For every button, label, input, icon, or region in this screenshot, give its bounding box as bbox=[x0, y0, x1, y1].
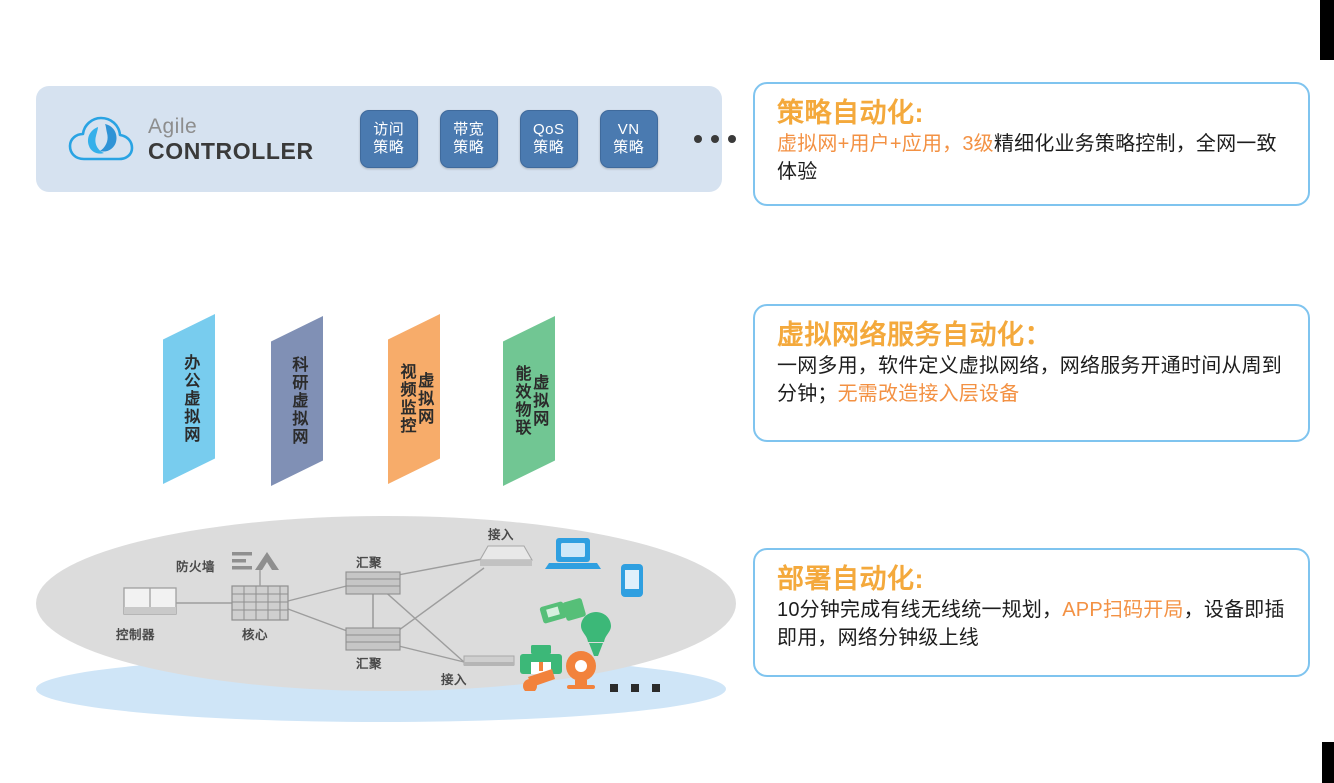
card-deployment-automation: 部署自动化: 10分钟完成有线无线统一规划，APP扫码开局，设备即插即用，网络分… bbox=[753, 548, 1310, 677]
logo-controller-text: CONTROLLER bbox=[148, 140, 314, 163]
core-switch-icon bbox=[232, 570, 288, 620]
vn-label-iot-1: 能效物联 bbox=[512, 365, 529, 437]
wireless-ap-icon bbox=[539, 598, 586, 624]
vn-plane-video-caption: 视频监控 虚拟网 bbox=[388, 314, 440, 484]
logo-wordmark: Agile CONTROLLER bbox=[148, 116, 314, 163]
policy-button-vn-line2: 策略 bbox=[613, 139, 644, 157]
card-2-highlight-text: 无需改造接入层设备 bbox=[838, 383, 1020, 405]
policy-button-row: 访问 策略 带宽 策略 QoS 策略 VN 策略 bbox=[360, 110, 736, 168]
topology-label-agg-bottom: 汇聚 bbox=[356, 653, 382, 672]
vn-label-office: 办公虚拟网 bbox=[181, 354, 198, 444]
switch-icon-agg-top bbox=[346, 572, 400, 594]
policy-button-access-line2: 策略 bbox=[373, 139, 404, 157]
card-virtual-network-automation-body: 一网多用，软件定义虚拟网络，网络服务开通时间从周到分钟；无需改造接入层设备 bbox=[777, 353, 1286, 408]
access-switch-icon-bottom bbox=[464, 656, 514, 666]
light-bulb-icon bbox=[581, 612, 611, 656]
topology-label-firewall: 防火墙 bbox=[176, 556, 215, 575]
cloud-swirl-icon bbox=[68, 113, 134, 165]
policy-ellipsis-icon bbox=[694, 135, 736, 143]
card-policy-automation-body: 虚拟网+用户+应用，3级精细化业务策略控制，全网一致体验 bbox=[777, 131, 1286, 186]
agile-controller-logo: Agile CONTROLLER bbox=[68, 113, 314, 165]
card-virtual-network-automation-title: 虚拟网络服务自动化： bbox=[777, 320, 1286, 351]
card-deployment-automation-body: 10分钟完成有线无线统一规划，APP扫码开局，设备即插即用，网络分钟级上线 bbox=[777, 597, 1286, 652]
vn-plane-research: 科研虚拟网 bbox=[271, 316, 323, 486]
vn-plane-office-caption: 办公虚拟网 bbox=[163, 314, 215, 484]
vn-plane-iot-caption: 能效物联 虚拟网 bbox=[503, 316, 555, 486]
left-diagram-column: Agile CONTROLLER 访问 策略 带宽 策略 QoS 策略 bbox=[0, 0, 745, 783]
vn-plane-office: 办公虚拟网 bbox=[163, 314, 215, 484]
topology-links bbox=[36, 516, 736, 691]
logo-agile-text: Agile bbox=[148, 116, 197, 137]
dome-camera-icon bbox=[566, 651, 596, 689]
vn-plane-research-caption: 科研虚拟网 bbox=[271, 316, 323, 486]
policy-button-qos[interactable]: QoS 策略 bbox=[520, 110, 578, 168]
vn-label-research: 科研虚拟网 bbox=[289, 356, 306, 446]
vn-plane-video: 视频监控 虚拟网 bbox=[388, 314, 440, 484]
policy-button-access-line1: 访问 bbox=[373, 121, 404, 139]
card-virtual-network-automation: 虚拟网络服务自动化： 一网多用，软件定义虚拟网络，网络服务开通时间从周到分钟；无… bbox=[753, 304, 1310, 442]
topology-label-agg-top: 汇聚 bbox=[356, 552, 382, 571]
right-edge-bar-top bbox=[1320, 0, 1334, 60]
right-edge-bar-bottom bbox=[1322, 742, 1334, 783]
vn-label-iot-2: 虚拟网 bbox=[530, 374, 547, 428]
network-topology: 控制器 防火墙 核心 汇聚 汇聚 接入 接入 bbox=[36, 516, 736, 691]
card-3-highlight-text: APP扫码开局 bbox=[1062, 599, 1183, 621]
access-switch-icon-top bbox=[480, 546, 532, 566]
card-1-highlight-text: 虚拟网+用户+应用，3级 bbox=[777, 133, 994, 155]
card-deployment-automation-title: 部署自动化: bbox=[777, 564, 1286, 595]
topology-label-access-top: 接入 bbox=[488, 524, 514, 543]
card-3-plain-text-1: 10分钟完成有线无线统一规划， bbox=[777, 599, 1062, 621]
topology-label-controller: 控制器 bbox=[116, 624, 155, 643]
slide-root: Agile CONTROLLER 访问 策略 带宽 策略 QoS 策略 bbox=[0, 0, 1334, 783]
topology-label-access-bottom: 接入 bbox=[441, 669, 467, 688]
policy-button-qos-line2: 策略 bbox=[533, 139, 564, 157]
policy-button-vn[interactable]: VN 策略 bbox=[600, 110, 658, 168]
policy-button-bandwidth-line1: 带宽 bbox=[453, 121, 484, 139]
laptop-icon bbox=[545, 538, 601, 569]
tablet-icon bbox=[621, 564, 643, 597]
server-rack-icon bbox=[124, 588, 176, 614]
card-policy-automation: 策略自动化: 虚拟网+用户+应用，3级精细化业务策略控制，全网一致体验 bbox=[753, 82, 1310, 206]
topology-label-core: 核心 bbox=[242, 624, 268, 643]
policy-button-access[interactable]: 访问 策略 bbox=[360, 110, 418, 168]
firewall-icon bbox=[232, 552, 279, 570]
policy-button-qos-line1: QoS bbox=[533, 121, 565, 139]
agile-controller-band: Agile CONTROLLER 访问 策略 带宽 策略 QoS 策略 bbox=[36, 86, 722, 192]
vn-label-video-2: 虚拟网 bbox=[415, 372, 432, 426]
policy-button-bandwidth-line2: 策略 bbox=[453, 139, 484, 157]
policy-button-bandwidth[interactable]: 带宽 策略 bbox=[440, 110, 498, 168]
vn-plane-iot: 能效物联 虚拟网 bbox=[503, 316, 555, 486]
card-policy-automation-title: 策略自动化: bbox=[777, 98, 1286, 129]
policy-button-vn-line1: VN bbox=[618, 121, 640, 139]
vn-label-video-1: 视频监控 bbox=[397, 363, 414, 435]
switch-icon-agg-bottom bbox=[346, 628, 400, 650]
virtual-network-planes: 办公虚拟网 科研虚拟网 视频监控 虚拟网 能效物联 bbox=[0, 296, 745, 496]
